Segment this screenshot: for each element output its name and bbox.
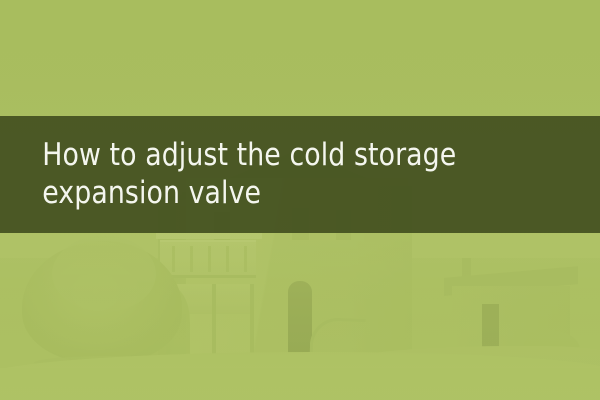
balcony-rail-bar xyxy=(172,246,175,272)
porch-post xyxy=(212,284,216,362)
porch-post xyxy=(250,284,254,362)
balcony-rail-bar xyxy=(226,246,229,272)
house-front-door xyxy=(288,281,312,363)
page-title: How to adjust the cold storage expansion… xyxy=(0,137,474,213)
balcony-rail-bar xyxy=(208,246,211,272)
balcony-rail-bar xyxy=(190,246,193,272)
tree-crown-highlight xyxy=(52,236,156,312)
hero-banner: How to adjust the cold storage expansion… xyxy=(0,0,600,400)
balcony-canopy xyxy=(156,233,262,239)
title-overlay-band: How to adjust the cold storage expansion… xyxy=(0,116,600,233)
grass-foreground xyxy=(0,368,600,400)
balcony-rail-bar xyxy=(244,246,247,272)
house-balcony xyxy=(160,240,256,278)
